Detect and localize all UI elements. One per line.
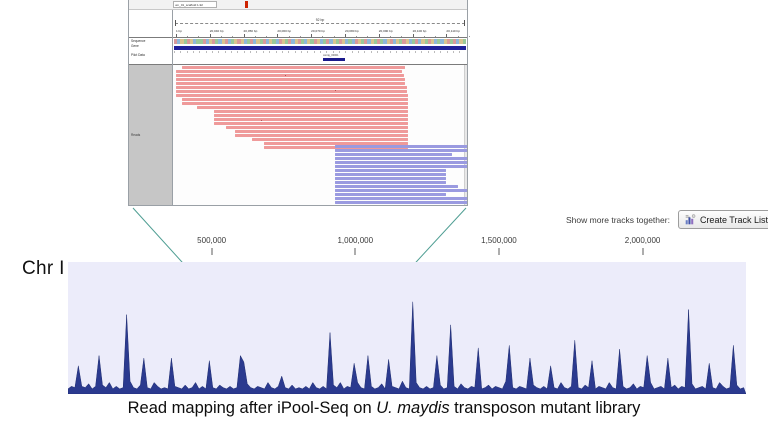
caption-part2: transposon mutant library [450, 399, 641, 417]
ruler-minor-mark [469, 36, 470, 38]
ruler-minor-mark [255, 36, 256, 38]
ruler-tick-label: 20,090 bp [379, 29, 393, 33]
ruler-tick-label: 20,060 bp [277, 29, 291, 33]
read-forward[interactable] [252, 138, 408, 141]
ruler-minor-mark [266, 36, 267, 38]
read-forward[interactable] [214, 122, 408, 125]
ruler-tick-label: 20,100 bp [413, 29, 427, 33]
sequence-track [174, 39, 466, 44]
ruler-tick-label: 20,080 bp [345, 29, 359, 33]
alignment-scrollbar[interactable] [464, 65, 467, 205]
ruler-tick-mark [345, 34, 346, 37]
ruler-tick-label: 20,070 bp [311, 29, 325, 33]
ruler-tick-mark [210, 34, 211, 37]
axis-tick-label: 1,500,000 [481, 236, 517, 245]
read-reverse[interactable] [335, 157, 467, 160]
read-forward[interactable] [197, 106, 409, 109]
read-mismatch-marker [261, 120, 262, 121]
read-forward[interactable] [226, 126, 408, 129]
read-forward[interactable] [176, 82, 405, 85]
ruler-minor-mark [198, 36, 199, 38]
ruler-tick-mark [379, 34, 380, 37]
axis-tick-mark [355, 248, 356, 255]
reads-track-name-cell[interactable]: Reads [129, 65, 172, 205]
read-reverse[interactable] [335, 161, 467, 164]
read-forward[interactable] [182, 98, 408, 101]
read-forward[interactable] [176, 90, 407, 93]
track-name-column: Sequence Gene Pilot Data Reads [129, 10, 173, 205]
ruler-minor-mark [187, 36, 188, 38]
ruler-span-label: 92 bp [314, 18, 327, 22]
read-mismatch-marker [335, 90, 336, 91]
read-forward[interactable] [176, 94, 408, 97]
ruler-minor-mark [401, 36, 402, 38]
ruler-tick-mark [244, 34, 245, 37]
caption-part1: Read mapping after iPool-Seq on [128, 399, 377, 417]
ruler-tick-mark [277, 34, 278, 37]
track-list-icon [685, 214, 696, 225]
sequence-base [463, 39, 466, 44]
axis-tick-label: 2,000,000 [625, 236, 661, 245]
reads-track-label: Reads [131, 133, 140, 137]
read-forward[interactable] [214, 110, 408, 113]
read-reverse[interactable] [335, 169, 447, 172]
read-reverse[interactable] [335, 177, 447, 180]
ruler-minor-mark [221, 36, 222, 38]
read-forward[interactable] [176, 86, 407, 89]
ruler-ticks: 1 bp20,040 bp20,050 bp20,060 bp20,070 bp… [173, 26, 467, 37]
read-forward[interactable] [182, 102, 408, 105]
read-forward[interactable] [176, 70, 402, 73]
read-reverse[interactable] [335, 145, 467, 148]
gene-tick [459, 51, 465, 53]
read-reverse[interactable] [335, 193, 447, 196]
read-reverse[interactable] [335, 201, 467, 204]
gene-track-bar[interactable] [174, 46, 466, 50]
read-forward[interactable] [176, 74, 404, 77]
ruler-tick-mark [446, 34, 447, 37]
coordinate-ruler[interactable]: 92 bp 1 bp20,040 bp20,050 bp20,060 bp20,… [173, 10, 467, 38]
coverage-trace-svg [68, 262, 746, 394]
axis-tick-mark [498, 248, 499, 255]
read-reverse[interactable] [335, 197, 467, 200]
feature-bar[interactable] [323, 58, 345, 61]
read-forward[interactable] [235, 134, 408, 137]
ruler-tick-label: 20,040 bp [210, 29, 224, 33]
track-list-control: Show more tracks together: Create Track … [566, 210, 768, 229]
ruler-minor-mark [322, 36, 323, 38]
axis-tick-mark [642, 248, 643, 255]
ruler-minor-mark [390, 36, 391, 38]
coverage-plot[interactable] [68, 262, 746, 394]
track-data-column: 92 bp 1 bp20,040 bp20,050 bp20,060 bp20,… [173, 10, 467, 205]
ruler-minor-mark [424, 36, 425, 38]
ruler-tick-mark [176, 34, 177, 37]
sequence-and-gene-tracks: contig_00001 [173, 38, 467, 65]
read-reverse[interactable] [335, 173, 447, 176]
feature-label: contig_00001 [323, 54, 339, 57]
ruler-minor-mark [289, 36, 290, 38]
coverage-section: 500,0001,000,0001,500,0002,000,000 [0, 236, 768, 396]
ruler-tick-label: 20,050 bp [244, 29, 258, 33]
axis-tick-label: 500,000 [197, 236, 226, 245]
track-label-pilot-data[interactable]: Pilot Data [131, 53, 170, 58]
coverage-area-path [68, 302, 746, 394]
coverage-axis: 500,0001,000,0001,500,0002,000,000 [68, 236, 746, 262]
read-forward[interactable] [182, 66, 405, 69]
read-mismatch-marker [285, 75, 286, 76]
gene-track-ticks [174, 51, 466, 54]
ruler-tick-mark [311, 34, 312, 37]
read-forward[interactable] [214, 118, 408, 121]
read-alignment-track[interactable] [173, 65, 467, 205]
read-reverse[interactable] [335, 149, 467, 152]
read-reverse[interactable] [335, 153, 453, 156]
browser-toolbar: um_01_scaffold:1-92 [129, 0, 467, 10]
ruler-minor-mark [367, 36, 368, 38]
ruler-tick-mark [413, 34, 414, 37]
locus-input[interactable]: um_01_scaffold:1-92 [173, 1, 217, 8]
ruler-minor-mark [300, 36, 301, 38]
read-reverse[interactable] [335, 165, 467, 168]
ruler-minor-mark [356, 36, 357, 38]
ruler-minor-mark [435, 36, 436, 38]
track-label-gene[interactable]: Gene [131, 44, 170, 49]
caption-species: U. maydis [376, 399, 449, 417]
genome-browser-panel: um_01_scaffold:1-92 Sequence Gene Pilot … [128, 0, 468, 206]
axis-tick-label: 1,000,000 [337, 236, 373, 245]
ruler-minor-mark [232, 36, 233, 38]
ruler-minor-mark [334, 36, 335, 38]
read-forward[interactable] [235, 130, 408, 133]
browser-body: Sequence Gene Pilot Data Reads 92 bp 1 b… [129, 10, 467, 205]
ruler-tick-label: 20,110 bp [446, 29, 460, 33]
axis-tick-mark [211, 248, 212, 255]
create-track-list-button[interactable]: Create Track List [678, 210, 768, 229]
read-forward[interactable] [214, 114, 408, 117]
ruler-name-cell [129, 10, 172, 38]
ruler-minor-mark [458, 36, 459, 38]
read-forward[interactable] [176, 78, 405, 81]
read-reverse[interactable] [335, 189, 467, 192]
track-labels-group: Sequence Gene Pilot Data [129, 38, 172, 65]
create-track-list-button-label: Create Track List [700, 215, 768, 225]
read-reverse[interactable] [335, 185, 458, 188]
track-list-label: Show more tracks together: [566, 215, 670, 225]
ruler-tick-label: 1 bp [176, 29, 182, 33]
position-marker-icon [245, 1, 248, 8]
read-reverse[interactable] [335, 181, 447, 184]
figure-caption: Read mapping after iPool-Seq on U. maydi… [0, 399, 768, 418]
